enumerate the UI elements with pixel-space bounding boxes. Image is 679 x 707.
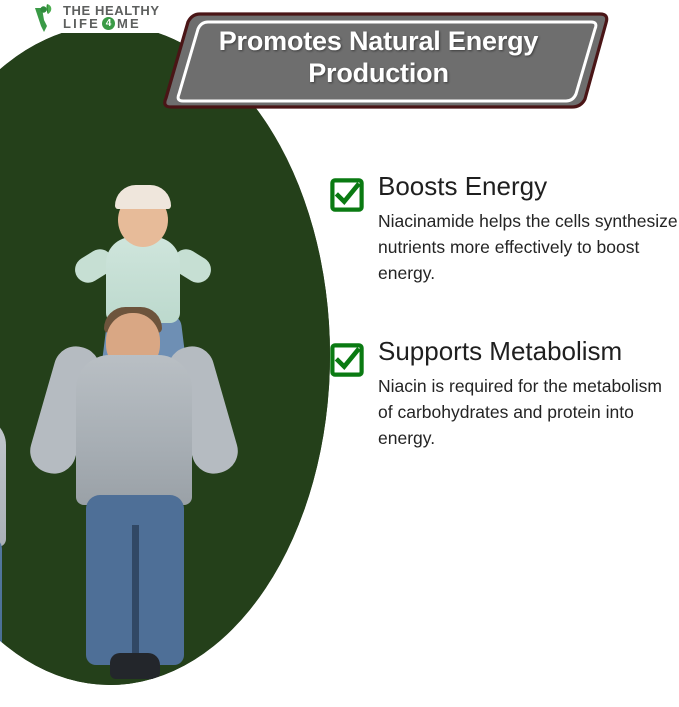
feature-description: Niacin is required for the metabolism of…: [378, 374, 678, 452]
child-headband: [115, 185, 171, 209]
brand-logo[interactable]: THE HEALTHY LIFE 4 ME: [32, 2, 160, 32]
feature-item: Boosts Energy Niacinamide helps the cell…: [330, 172, 678, 287]
product-infographic: Promotes Natural Energy Production THE H…: [0, 0, 679, 707]
father-shoe: [110, 653, 160, 679]
headline-banner: Promotes Natural Energy Production: [162, 6, 609, 114]
feature-list: Boosts Energy Niacinamide helps the cell…: [330, 172, 678, 452]
brand-line-1: THE HEALTHY: [63, 4, 160, 17]
banner-title: Promotes Natural Energy Production: [162, 6, 609, 114]
brand-line-2: LIFE 4 ME: [63, 17, 160, 30]
brand-number-badge: 4: [102, 17, 115, 30]
feature-text-block: Boosts Energy Niacinamide helps the cell…: [378, 172, 678, 287]
father-torso: [76, 355, 192, 505]
feature-description: Niacinamide helps the cells synthesize n…: [378, 209, 678, 287]
feature-text-block: Supports Metabolism Niacin is required f…: [378, 337, 678, 452]
brand-line-2-me: ME: [117, 17, 141, 30]
checkbox-checked-icon: [330, 343, 364, 377]
feature-item: Supports Metabolism Niacin is required f…: [330, 337, 678, 452]
brand-line-2-life: LIFE: [63, 17, 100, 30]
brand-logo-text: THE HEALTHY LIFE 4 ME: [63, 4, 160, 31]
father-leg-split: [132, 525, 139, 665]
person-leaf-icon: [32, 2, 58, 32]
checkbox-checked-icon: [330, 178, 364, 212]
mother-jeans: [0, 537, 2, 685]
feature-title: Supports Metabolism: [378, 337, 678, 366]
feature-title: Boosts Energy: [378, 172, 678, 201]
family-hiking-photo: [0, 33, 330, 707]
